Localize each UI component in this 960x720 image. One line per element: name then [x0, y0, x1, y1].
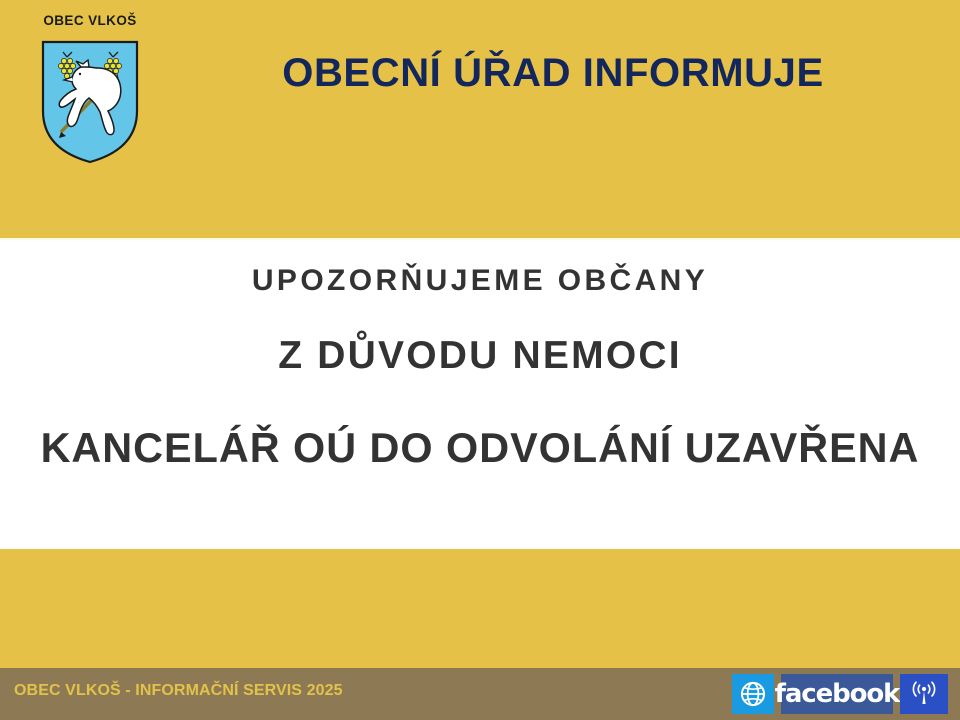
facebook-icon[interactable]: facebook: [781, 674, 893, 714]
announcement-text: UPOZORŇUJEME OBČANY Z DŮVODU NEMOCI KANC…: [0, 240, 960, 551]
broadcast-icon-glyph: [909, 680, 939, 708]
globe-icon-glyph: [739, 680, 767, 708]
broadcast-icon[interactable]: [900, 674, 948, 714]
shield-icon: [40, 39, 140, 165]
content-band: UPOZORŇUJEME OBČANY Z DŮVODU NEMOCI KANC…: [0, 238, 960, 549]
page-title: OBECNÍ ÚŘAD INFORMUJE: [168, 52, 938, 95]
announcement-slide: OBEC VLKOŠ: [0, 0, 960, 720]
announcement-line-1: UPOZORŇUJEME OBČANY: [0, 264, 960, 298]
footer-icon-group: facebook: [732, 673, 948, 715]
globe-icon[interactable]: [732, 674, 774, 714]
facebook-wordmark: facebook: [775, 681, 900, 707]
footer-caption: OBEC VLKOŠ - INFORMAČNÍ SERVIS 2025: [14, 682, 343, 700]
emblem-caption: OBEC VLKOŠ: [30, 14, 150, 28]
announcement-line-3: KANCELÁŘ OÚ DO ODVOLÁNÍ UZAVŘENA: [7, 424, 953, 472]
footer-band: [0, 549, 960, 668]
announcement-line-2: Z DŮVODU NEMOCI: [0, 334, 960, 378]
footer-bar: OBEC VLKOŠ - INFORMAČNÍ SERVIS 2025 face…: [0, 668, 960, 720]
vlkos-coat-of-arms: OBEC VLKOŠ: [30, 14, 150, 166]
